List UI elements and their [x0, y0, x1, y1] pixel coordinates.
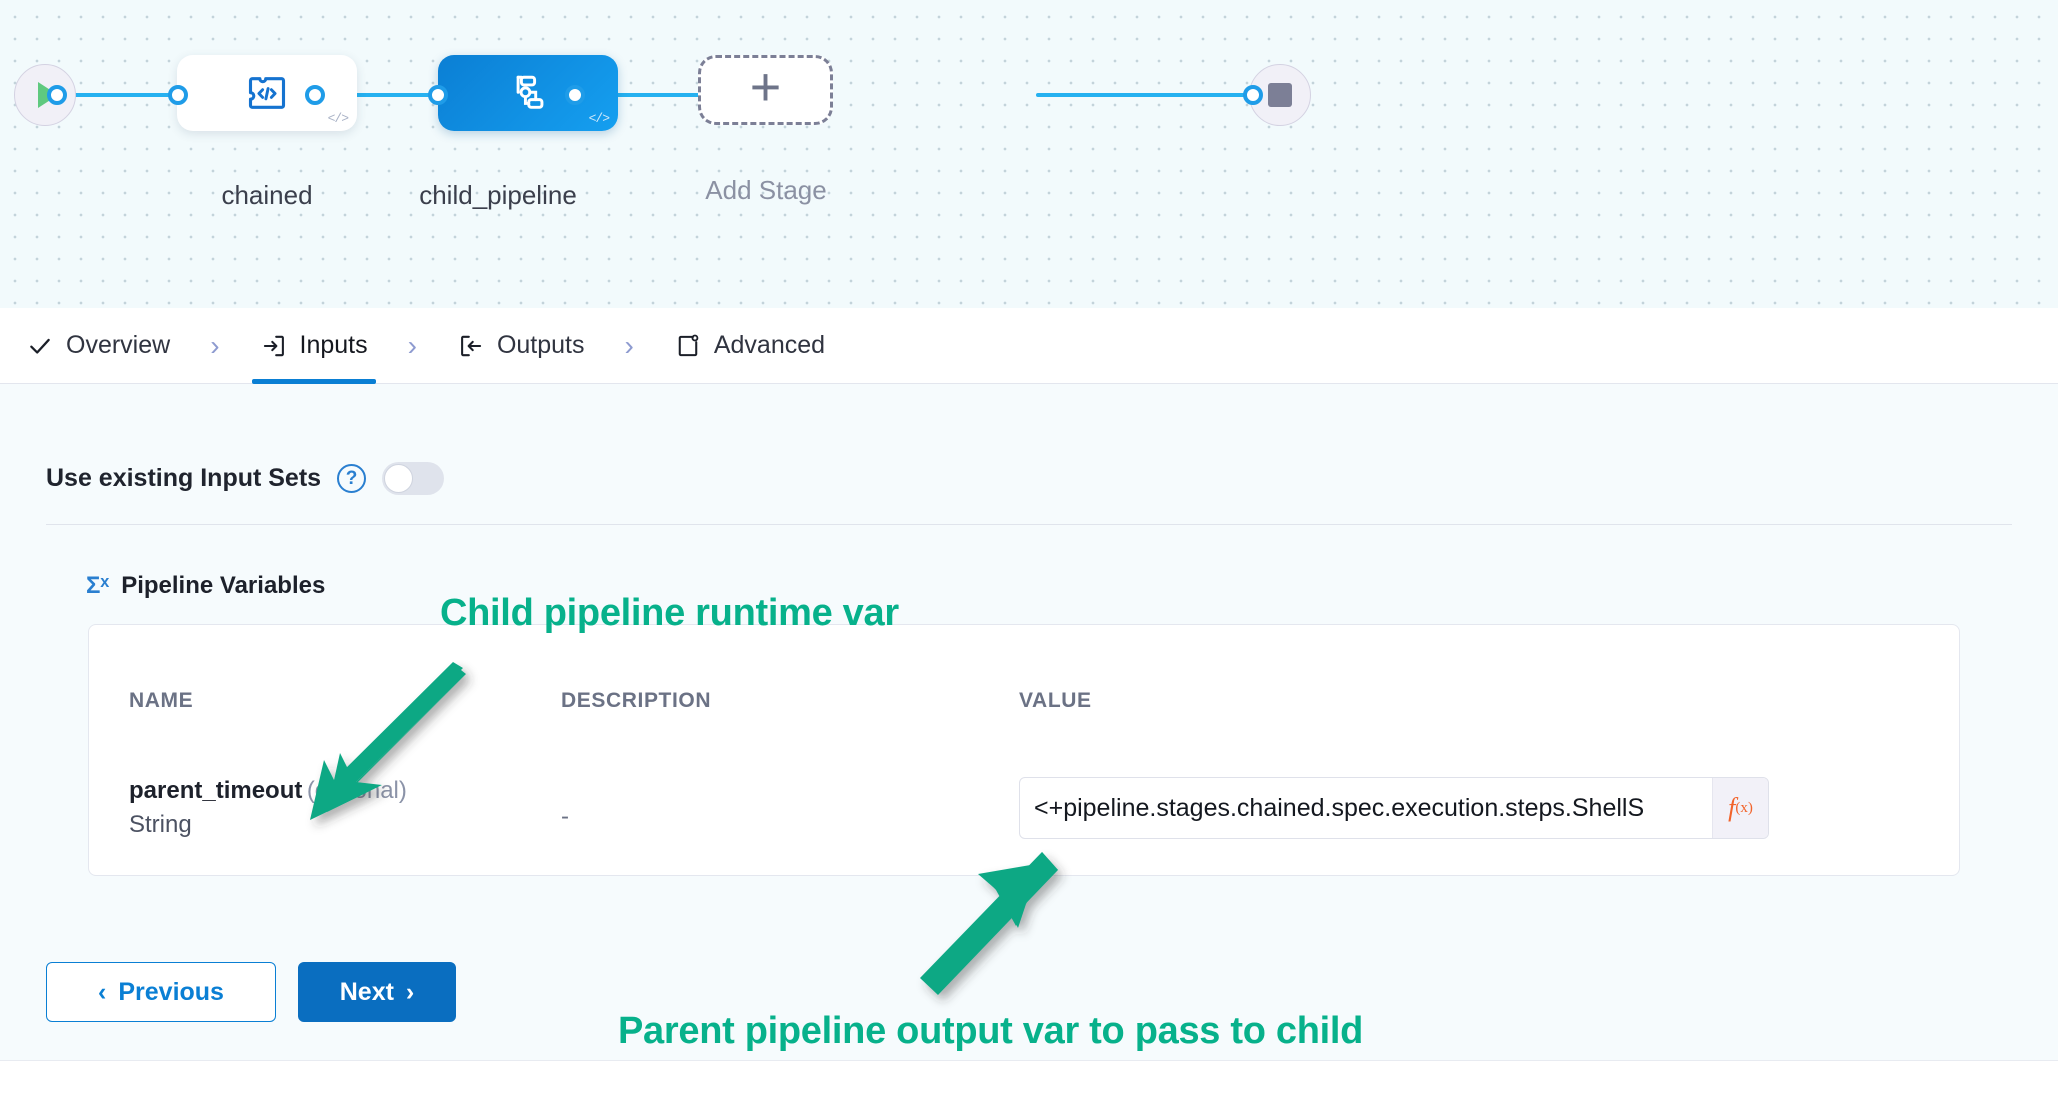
use-existing-input-sets-toggle[interactable] [382, 462, 444, 495]
tab-advanced[interactable]: Advanced [656, 308, 843, 384]
footer-strip [0, 1060, 2058, 1120]
tab-outputs[interactable]: Outputs [439, 308, 603, 384]
step-wizard-tabbar[interactable]: Overview › Inputs › Outputs › Advan [0, 308, 2058, 384]
previous-button-label: Previous [118, 978, 224, 1007]
panel-divider [46, 524, 2012, 525]
stage-label-child-pipeline: child_pipeline [368, 180, 628, 211]
chevron-right-icon: › [406, 978, 414, 1007]
column-header-value: VALUE [1019, 689, 1092, 713]
column-header-name: NAME [129, 689, 193, 713]
check-icon [26, 332, 54, 360]
custom-stage-code-icon [244, 71, 290, 115]
tab-separator-3: › [603, 330, 656, 362]
connector-addstage-to-end [1036, 93, 1251, 97]
advanced-gear-doc-icon [674, 332, 702, 360]
variable-name-line: parent_timeout (optional) [129, 777, 407, 805]
add-stage-node[interactable]: + [698, 55, 833, 125]
sigma-x-icon: Σˣ [86, 572, 109, 600]
stage-label-chained: chained [137, 180, 397, 211]
port-start-out[interactable] [47, 85, 67, 105]
annotation-child-runtime-var: Child pipeline runtime var [440, 592, 899, 635]
annotation-parent-output-var: Parent pipeline output var to pass to ch… [618, 1010, 1363, 1053]
tab-separator-1: › [188, 330, 241, 362]
chevron-left-icon: ‹ [98, 978, 106, 1007]
stage-node-chained[interactable]: </> [177, 55, 357, 131]
tab-advanced-label: Advanced [714, 331, 825, 360]
use-existing-input-sets-label: Use existing Input Sets [46, 464, 321, 493]
pipeline-variables-table: NAME DESCRIPTION VALUE parent_timeout (o… [88, 624, 1960, 876]
variable-type: String [129, 811, 407, 839]
previous-button[interactable]: ‹ Previous [46, 962, 276, 1022]
pipeline-graph-canvas[interactable]: </> chained </> child_pipeline + Add Sta… [0, 0, 2058, 308]
input-arrow-icon [260, 332, 288, 360]
port-end-in[interactable] [1243, 85, 1263, 105]
expression-fx-button[interactable]: f(x) [1712, 778, 1768, 838]
stage-node-child-pipeline[interactable]: </> [438, 55, 618, 131]
table-row: parent_timeout (optional) String [129, 777, 407, 839]
pipeline-variables-title: Pipeline Variables [121, 572, 325, 600]
stage-code-badge-child-pipeline: </> [589, 111, 609, 126]
next-button-label: Next [340, 978, 394, 1007]
tab-inputs-label: Inputs [300, 331, 368, 360]
tab-overview-label: Overview [66, 331, 170, 360]
tab-overview[interactable]: Overview [8, 308, 188, 384]
port-chained-out[interactable] [305, 85, 325, 105]
help-circle-icon[interactable]: ? [337, 464, 366, 493]
stop-icon [1268, 83, 1292, 107]
plus-icon: + [750, 60, 782, 114]
toggle-knob [384, 464, 413, 493]
tab-outputs-label: Outputs [497, 331, 585, 360]
variable-value-field[interactable]: f(x) [1019, 777, 1769, 839]
stage-code-badge-chained: </> [328, 111, 348, 126]
next-button[interactable]: Next › [298, 962, 456, 1022]
fx-label: f [1728, 793, 1735, 823]
column-header-description: DESCRIPTION [561, 689, 711, 713]
use-existing-input-sets-row: Use existing Input Sets ? [46, 462, 444, 495]
add-stage-label: Add Stage [636, 175, 896, 206]
pipeline-chain-icon [505, 71, 551, 115]
variable-name: parent_timeout [129, 777, 302, 804]
variable-optional-badge: (optional) [307, 777, 407, 804]
pipeline-variables-header: Σˣ Pipeline Variables [86, 572, 325, 600]
fx-sub: (x) [1735, 800, 1753, 817]
variable-value-input[interactable] [1020, 778, 1712, 838]
output-arrow-icon [457, 332, 485, 360]
variable-description: - [561, 803, 569, 831]
tab-separator-2: › [386, 330, 439, 362]
port-child-out[interactable] [565, 85, 585, 105]
tab-inputs[interactable]: Inputs [242, 308, 386, 384]
port-child-in[interactable] [428, 85, 448, 105]
port-chained-in[interactable] [168, 85, 188, 105]
